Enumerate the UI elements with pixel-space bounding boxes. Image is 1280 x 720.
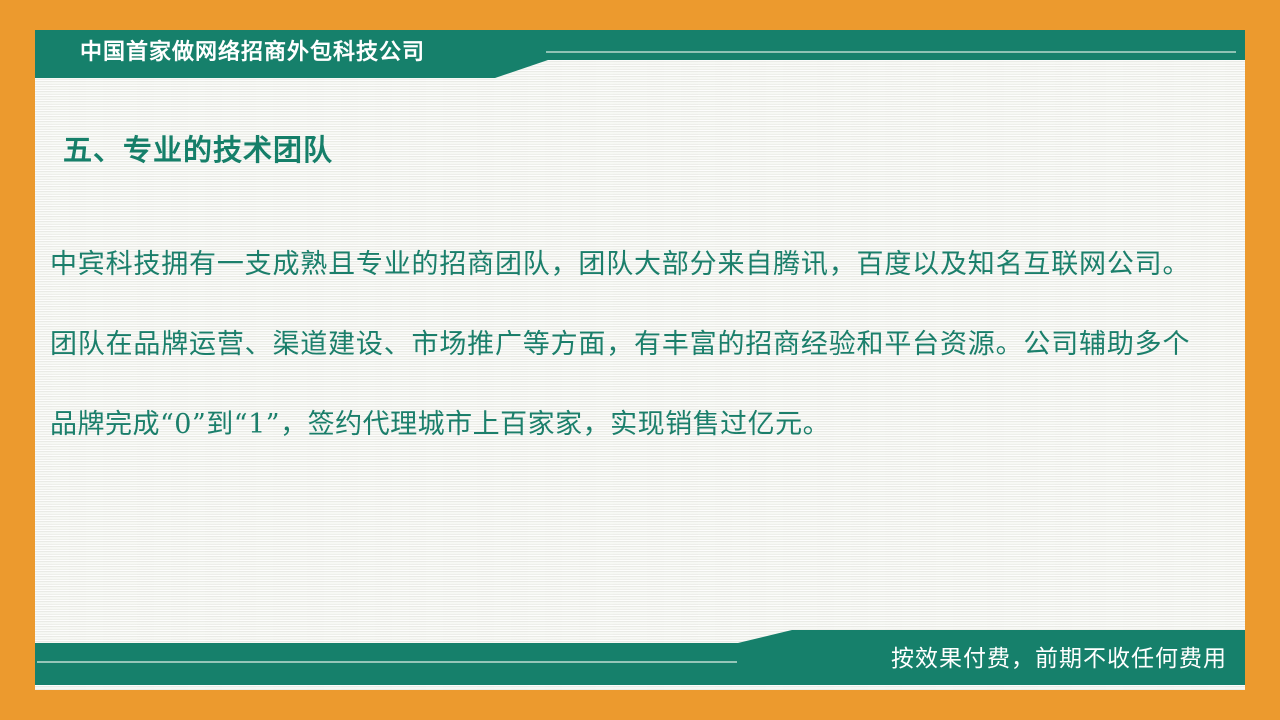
header-band: 中国首家做网络招商外包科技公司 [35, 30, 1245, 78]
footer-band: 按效果付费，前期不收任何费用 [35, 630, 1245, 690]
body-paragraph: 中宾科技拥有一支成熟且专业的招商团队，团队大部分来自腾讯，百度以及知名互联网公司… [50, 225, 1190, 465]
header-title: 中国首家做网络招商外包科技公司 [80, 30, 425, 74]
slide-root: 中国首家做网络招商外包科技公司 五、专业的技术团队 中宾科技拥有一支成熟且专业的… [0, 0, 1280, 720]
section-heading: 五、专业的技术团队 [63, 127, 333, 169]
footer-hairline-decoration [37, 661, 737, 663]
footer-slogan: 按效果付费，前期不收任何费用 [891, 634, 1227, 682]
header-hairline-decoration [546, 51, 1236, 53]
